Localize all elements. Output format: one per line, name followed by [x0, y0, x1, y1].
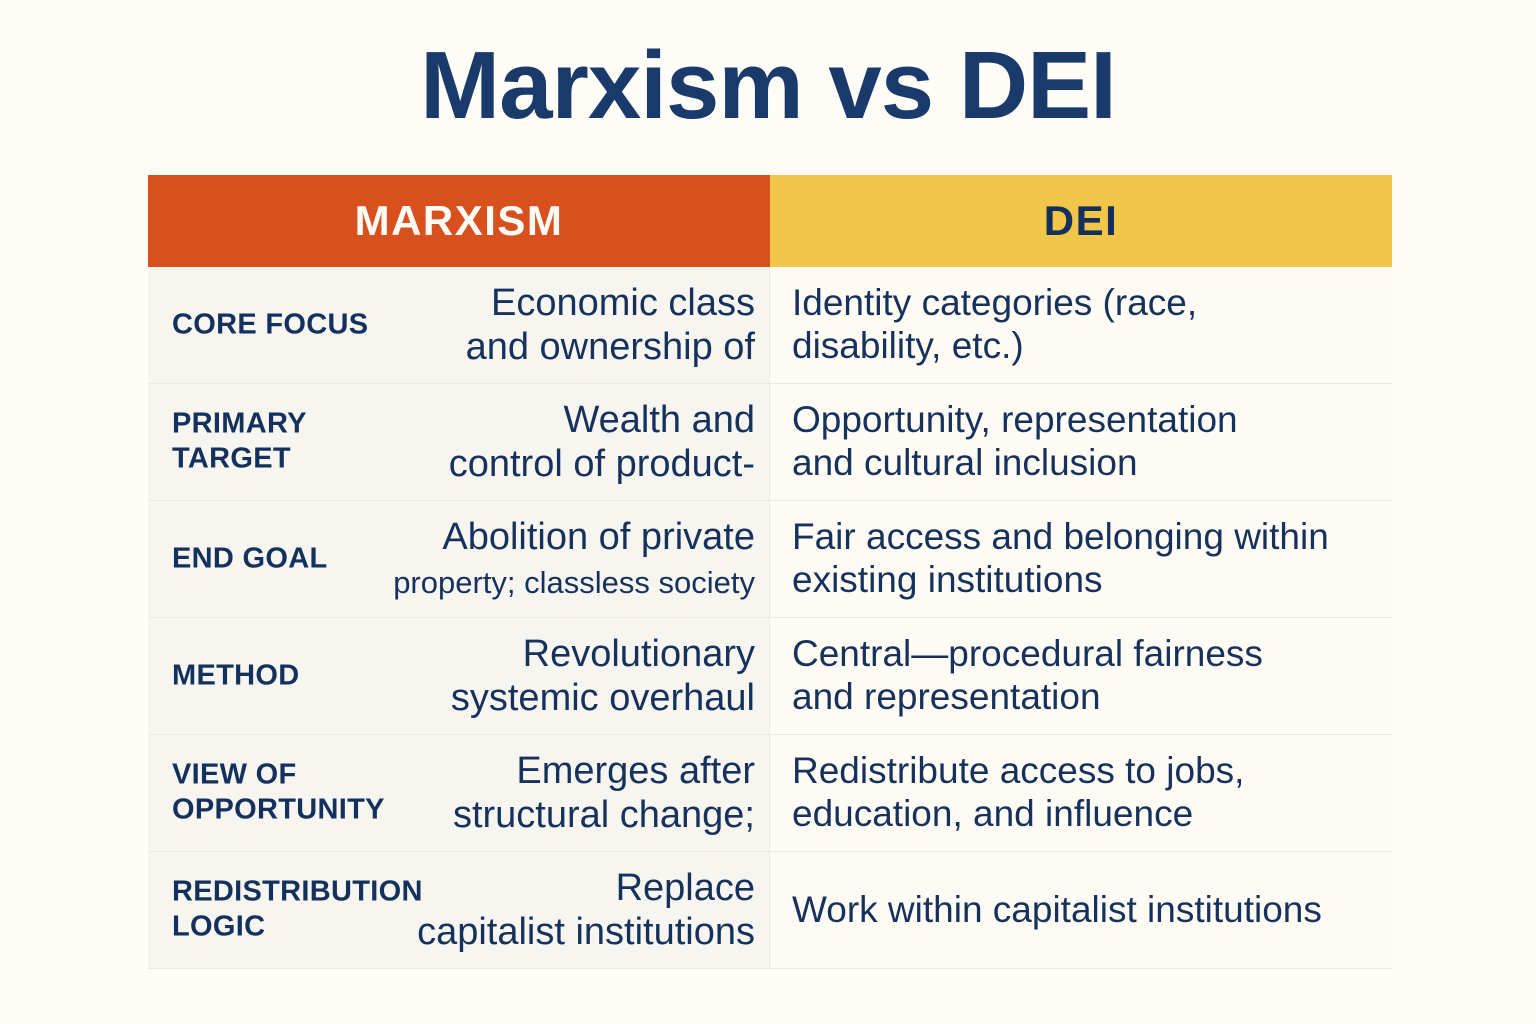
- row-label: CORE FOCUS: [172, 307, 368, 342]
- marxism-value-main: Revolutionary systemic overhaul: [451, 633, 755, 719]
- row-label: METHOD: [172, 658, 299, 693]
- column-header-dei: DEI: [770, 175, 1392, 267]
- cell-dei: Central—procedural fairness and represen…: [770, 618, 1392, 734]
- marxism-value-main: Replace capitalist institutions: [417, 867, 755, 953]
- dei-value: Identity categories (race, disability, e…: [792, 282, 1197, 368]
- page-title: Marxism vs DEI: [0, 38, 1536, 134]
- table-row: VIEW OF OPPORTUNITYEmerges after structu…: [148, 734, 1392, 851]
- row-label: END GOAL: [172, 541, 327, 576]
- cell-marxism: METHODRevolutionary systemic overhaul: [148, 618, 770, 734]
- marxism-value-main: Abolition of private: [442, 516, 755, 558]
- cell-marxism: CORE FOCUSEconomic class and ownership o…: [148, 267, 770, 383]
- dei-value: Opportunity, representation and cultural…: [792, 399, 1238, 485]
- table-row: CORE FOCUSEconomic class and ownership o…: [148, 267, 1392, 383]
- table-row: END GOALAbolition of privateproperty; cl…: [148, 500, 1392, 617]
- column-header-marxism: MARXISM: [148, 175, 770, 267]
- row-label: PRIMARY TARGET: [172, 407, 307, 478]
- comparison-table: MARXISM DEI CORE FOCUSEconomic class and…: [148, 175, 1392, 969]
- cell-dei: Redistribute access to jobs, education, …: [770, 735, 1392, 851]
- row-label: VIEW OF OPPORTUNITY: [172, 758, 385, 829]
- cell-marxism: PRIMARY TARGETWealth and control of prod…: [148, 384, 770, 500]
- cell-dei: Work within capitalist institutions: [770, 852, 1392, 968]
- comparison-infographic: Marxism vs DEI MARXISM DEI CORE FOCUSEco…: [0, 0, 1536, 1024]
- cell-marxism: REDISTRIBUTION LOGICReplace capitalist i…: [148, 852, 770, 968]
- table-row: REDISTRIBUTION LOGICReplace capitalist i…: [148, 851, 1392, 968]
- dei-value: Redistribute access to jobs, education, …: [792, 750, 1244, 836]
- cell-marxism: VIEW OF OPPORTUNITYEmerges after structu…: [148, 735, 770, 851]
- row-label: REDISTRIBUTION LOGIC: [172, 875, 423, 946]
- table-row: METHODRevolutionary systemic overhaulCen…: [148, 617, 1392, 734]
- cell-dei: Identity categories (race, disability, e…: [770, 267, 1392, 383]
- dei-value: Central—procedural fairness and represen…: [792, 633, 1263, 719]
- cell-dei: Fair access and belonging within existin…: [770, 501, 1392, 617]
- marxism-value-main: Economic class and ownership of: [466, 282, 755, 368]
- table-body: CORE FOCUSEconomic class and ownership o…: [148, 267, 1392, 969]
- marxism-value-main: Wealth and control of product-: [449, 399, 755, 485]
- cell-marxism: END GOALAbolition of privateproperty; cl…: [148, 501, 770, 617]
- dei-value: Work within capitalist institutions: [792, 889, 1322, 932]
- marxism-value-secondary: property; classless society: [393, 565, 755, 600]
- dei-value: Fair access and belonging within existin…: [792, 516, 1329, 602]
- table-row: PRIMARY TARGETWealth and control of prod…: [148, 383, 1392, 500]
- table-header-row: MARXISM DEI: [148, 175, 1392, 267]
- marxism-value-main: Emerges after structural change;: [453, 750, 755, 836]
- cell-dei: Opportunity, representation and cultural…: [770, 384, 1392, 500]
